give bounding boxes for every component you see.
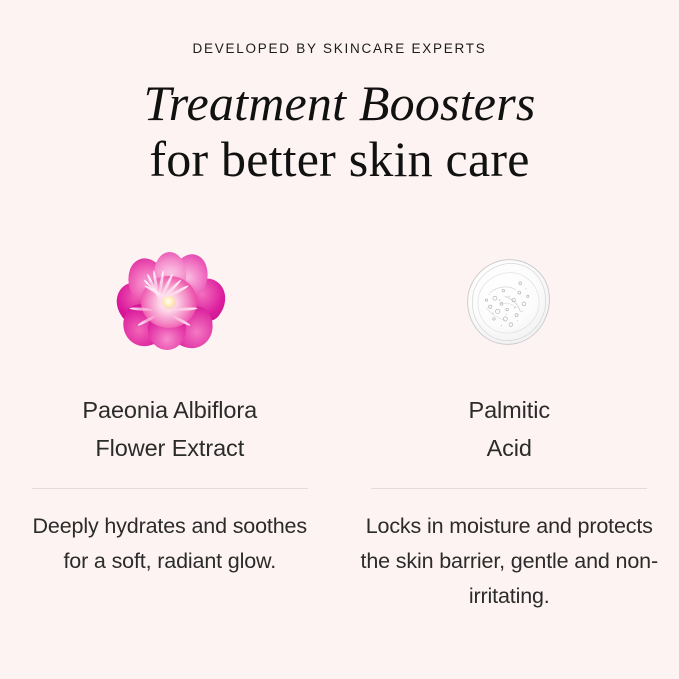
ingredient-description-palmitic-acid: Locks in moisture and protects the skin … <box>359 509 659 614</box>
eyebrow-text: DEVELOPED BY SKINCARE EXPERTS <box>0 42 679 56</box>
ingredient-name-line-1: Palmitic <box>469 391 550 429</box>
ingredient-name-peony: Paeonia Albiflora Flower Extract <box>82 391 257 467</box>
ingredient-name-line-2: Flower Extract <box>82 429 257 467</box>
header: DEVELOPED BY SKINCARE EXPERTS Treatment … <box>0 0 679 188</box>
infographic-page: DEVELOPED BY SKINCARE EXPERTS Treatment … <box>0 0 679 679</box>
gel-droplet-art <box>444 243 574 361</box>
peony-flower-art <box>105 243 235 361</box>
ingredient-name-line-2: Acid <box>469 429 550 467</box>
gel-droplet-icon <box>462 254 556 350</box>
ingredient-card-palmitic-acid: Palmitic Acid Locks in moisture and prot… <box>340 243 679 614</box>
ingredient-name-line-1: Paeonia Albiflora <box>82 391 257 429</box>
ingredient-card-peony: Paeonia Albiflora Flower Extract Deeply … <box>0 243 340 614</box>
gel-outer-edge <box>468 260 550 345</box>
divider-peony <box>32 488 308 489</box>
divider-palmitic-acid <box>371 488 647 489</box>
flower-center-dot <box>162 296 176 309</box>
peony-flower-icon <box>114 252 226 352</box>
ingredient-description-peony: Deeply hydrates and soothes for a soft, … <box>20 509 320 579</box>
page-title: Treatment Boosters for better skin care <box>0 75 679 188</box>
ingredient-name-palmitic-acid: Palmitic Acid <box>469 391 550 467</box>
ingredient-columns: Paeonia Albiflora Flower Extract Deeply … <box>0 243 679 614</box>
headline-line-1: Treatment Boosters <box>0 75 679 131</box>
headline-line-2: for better skin care <box>0 131 679 188</box>
